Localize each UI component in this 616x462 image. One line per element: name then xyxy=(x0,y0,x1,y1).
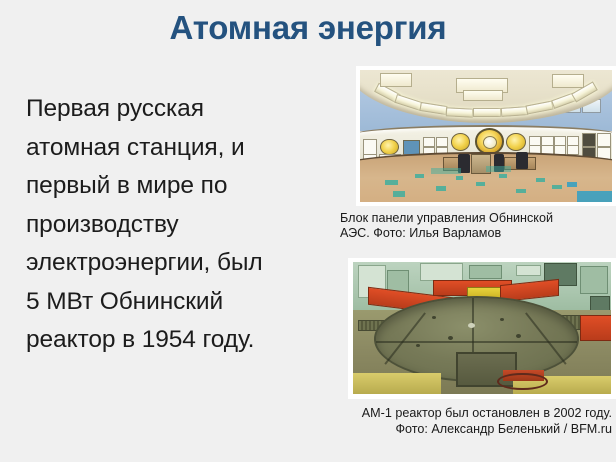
wall-equipment xyxy=(469,265,502,279)
body-line: атомная станция, и xyxy=(26,129,336,168)
floor-tile xyxy=(486,166,511,171)
floor-tile xyxy=(577,191,612,202)
ceiling-light xyxy=(445,107,473,117)
body-text: Первая русская атомная станция, и первый… xyxy=(26,90,336,360)
control-room-figure xyxy=(356,66,616,206)
wall-equipment xyxy=(580,266,608,294)
floor-tile xyxy=(567,182,577,187)
ceiling-light-panel xyxy=(552,74,584,88)
reactor-hall-photo xyxy=(353,262,611,394)
slide: Атомная энергия Первая русская атомная с… xyxy=(0,0,616,462)
lid-bolt xyxy=(432,316,436,319)
control-room-caption: Блок панели управления Обнинской АЭС. Фо… xyxy=(340,211,612,242)
floor-tile xyxy=(436,186,446,191)
caption-line: Фото: Александр Беленький / BFM.ru xyxy=(300,422,612,438)
lid-seam xyxy=(525,313,567,366)
lid-bolt xyxy=(416,344,420,347)
reactor-hall-caption: АМ-1 реактор был остановлен в 2002 году.… xyxy=(300,406,612,438)
caption-line: АЭС. Фото: Илья Варламов xyxy=(340,226,612,241)
control-room-photo xyxy=(360,70,612,202)
gauge-dial xyxy=(506,133,526,151)
lid-bolt xyxy=(448,336,453,340)
floor-tile xyxy=(385,180,398,185)
floor-tile xyxy=(456,176,464,180)
floor-tile xyxy=(499,174,508,178)
lid-bolt xyxy=(516,334,521,338)
ceiling-light xyxy=(501,106,529,116)
ceiling-light-panel xyxy=(463,90,503,101)
body-line: Первая русская xyxy=(26,90,336,129)
floor-tile xyxy=(393,191,406,196)
wall-equipment xyxy=(420,263,463,281)
floor-tile xyxy=(516,189,526,194)
page-title: Атомная энергия xyxy=(0,8,616,48)
floor-tile xyxy=(536,178,545,182)
ceiling-light-panel xyxy=(380,73,412,87)
body-line: 5 МВт Обнинский xyxy=(26,283,336,322)
floor-tile xyxy=(552,185,562,190)
ceiling-light xyxy=(473,108,500,117)
operator-chair xyxy=(516,152,527,169)
floor-tile xyxy=(431,168,461,175)
lid-bolt xyxy=(500,318,504,321)
cable-hose xyxy=(497,373,547,390)
foreground-platform xyxy=(353,373,441,394)
instrument-panel xyxy=(597,133,612,147)
wall-equipment xyxy=(516,265,541,276)
reactor-hall-figure xyxy=(348,258,616,399)
body-line: реактор в 1954 году. xyxy=(26,321,336,360)
reactor-platform-red xyxy=(580,315,611,341)
floor-tile xyxy=(415,174,424,178)
lid-bolt xyxy=(468,323,475,328)
main-reactor-dial xyxy=(475,128,504,154)
body-line: первый в мире по xyxy=(26,167,336,206)
lid-seam xyxy=(384,313,426,366)
instrument-panel xyxy=(582,133,597,147)
caption-line: АМ-1 реактор был остановлен в 2002 году. xyxy=(300,406,612,422)
body-line: электроэнергии, был xyxy=(26,244,336,283)
caption-line: Блок панели управления Обнинской xyxy=(340,211,612,226)
gauge-dial xyxy=(380,139,398,156)
floor-tile xyxy=(476,182,485,186)
body-line: производству xyxy=(26,206,336,245)
